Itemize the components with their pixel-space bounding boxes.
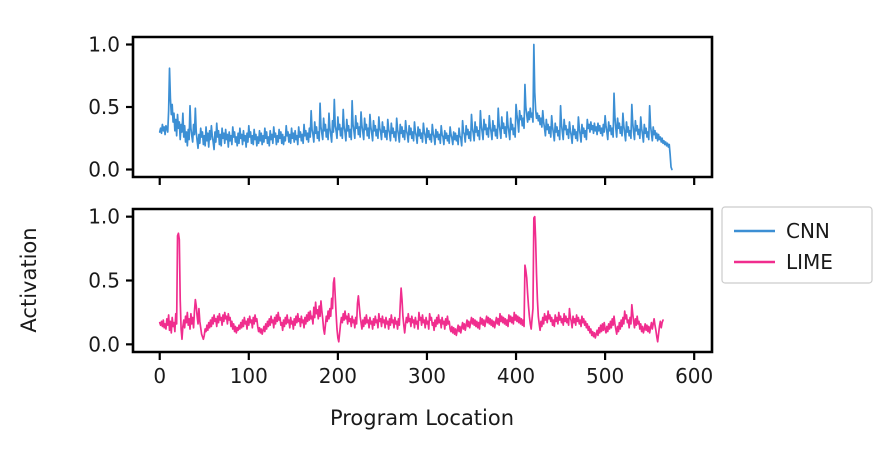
legend-label-lime: LIME [786,250,833,274]
x-ticklabel: 600 [675,364,713,388]
y-ticklabel: 0.0 [88,332,120,356]
y-ticklabel: 1.0 [88,205,120,229]
x-axis-title: Program Location [330,406,514,430]
x-ticklabel: 500 [586,364,624,388]
cnn-plot-background [133,37,712,177]
legend-label-cnn: CNN [786,219,830,243]
figure-container: 0.00.51.0 0.00.51.0 0100200300400500600 … [0,0,884,464]
lime-panel: 0.00.51.0 0100200300400500600 [88,205,713,388]
x-ticklabel: 300 [408,364,446,388]
x-ticklabel: 0 [153,364,166,388]
y-ticklabel: 1.0 [88,33,120,57]
y-ticklabel: 0.5 [88,95,120,119]
y-axis-title: Activation [17,227,41,332]
legend: CNN LIME [722,207,872,283]
x-ticklabel: 400 [497,364,535,388]
x-ticklabel: 100 [230,364,268,388]
x-ticklabels: 0100200300400500600 [153,364,713,388]
cnn-y-ticklabels: 0.00.51.0 [88,33,120,182]
chart-canvas: 0.00.51.0 0.00.51.0 0100200300400500600 … [0,0,884,464]
lime-plot-background [133,209,712,352]
x-ticklabel: 200 [319,364,357,388]
y-ticklabel: 0.5 [88,269,120,293]
cnn-panel: 0.00.51.0 [88,33,712,186]
y-ticklabel: 0.0 [88,158,120,182]
lime-y-ticklabels: 0.00.51.0 [88,205,120,357]
